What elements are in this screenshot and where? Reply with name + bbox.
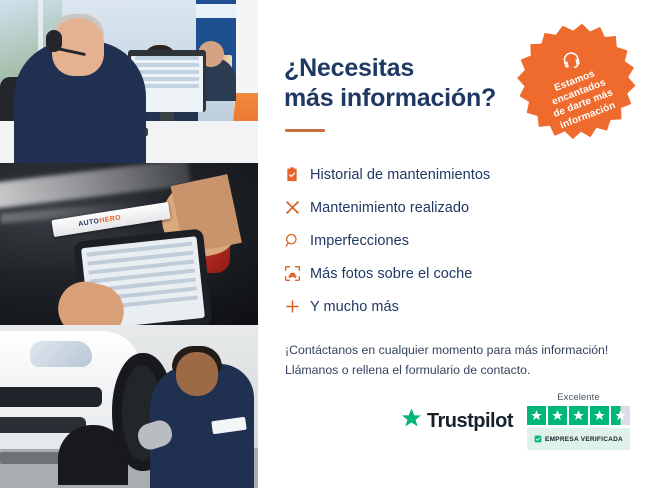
feature-label: Y mucho más <box>310 299 399 315</box>
trustpilot-star-icon <box>400 407 423 435</box>
verified-check-icon <box>534 430 542 448</box>
feature-item-maintenance-history: Historial de mantenimientos <box>284 158 626 191</box>
content-panel: ¿Necesitas más información? Estamos en <box>258 0 650 488</box>
trustpilot-wordmark: Trustpilot <box>427 410 513 433</box>
verified-company-badge: EMPRESA VERIFICADA <box>527 428 630 450</box>
magnifier-icon <box>284 232 310 249</box>
badge-text: Estamos encantados de darte más informac… <box>543 64 619 132</box>
tools-cross-icon <box>284 199 310 216</box>
mechanic-wheel-photo <box>0 325 258 488</box>
photo-column: AUTOHERO <box>0 0 258 488</box>
title-line-2: más información? <box>284 84 496 112</box>
feature-item-much-more: Y mucho más <box>284 290 626 323</box>
star-filled <box>548 406 567 425</box>
paragraph-line-2: Llámanos o rellena el formulario de cont… <box>285 361 626 381</box>
trustpilot-rating-label: Excelente <box>557 392 600 403</box>
trustpilot-stars <box>527 406 630 425</box>
feature-label: Más fotos sobre el coche <box>310 266 472 282</box>
star-filled <box>569 406 588 425</box>
feature-item-maintenance-done: Mantenimiento realizado <box>284 191 626 224</box>
feature-label: Historial de mantenimientos <box>310 167 490 183</box>
plus-icon <box>284 298 310 315</box>
star-half <box>611 406 630 425</box>
trustpilot-widget[interactable]: Trustpilot Excelente <box>400 392 630 450</box>
title-line-1: ¿Necesitas <box>284 54 414 82</box>
autohero-ruler-brand: AUTOHERO <box>78 214 122 228</box>
verified-company-label: EMPRESA VERIFICADA <box>545 436 623 443</box>
call-center-agents-photo <box>0 0 258 163</box>
star-filled <box>527 406 546 425</box>
title-underline <box>285 129 325 132</box>
feature-list: Historial de mantenimientos Mantenimient… <box>284 158 626 323</box>
trustpilot-logo: Trustpilot <box>400 407 513 435</box>
promo-badge: Estamos encantados de darte más informac… <box>505 11 648 154</box>
clipboard-check-icon <box>284 166 310 183</box>
info-card: AUTOHERO ¿Necesitas más información? <box>0 0 650 488</box>
feature-label: Mantenimiento realizado <box>310 200 469 216</box>
contact-paragraph: ¡Contáctanos en cualquier momento para m… <box>285 341 626 381</box>
paragraph-line-1: ¡Contáctanos en cualquier momento para m… <box>285 341 626 361</box>
feature-item-imperfections: Imperfecciones <box>284 224 626 257</box>
star-filled <box>590 406 609 425</box>
car-inspection-ruler-photo: AUTOHERO <box>0 163 258 325</box>
feature-label: Imperfecciones <box>310 233 409 249</box>
feature-item-more-photos: Más fotos sobre el coche <box>284 257 626 290</box>
car-scan-icon <box>284 265 310 282</box>
